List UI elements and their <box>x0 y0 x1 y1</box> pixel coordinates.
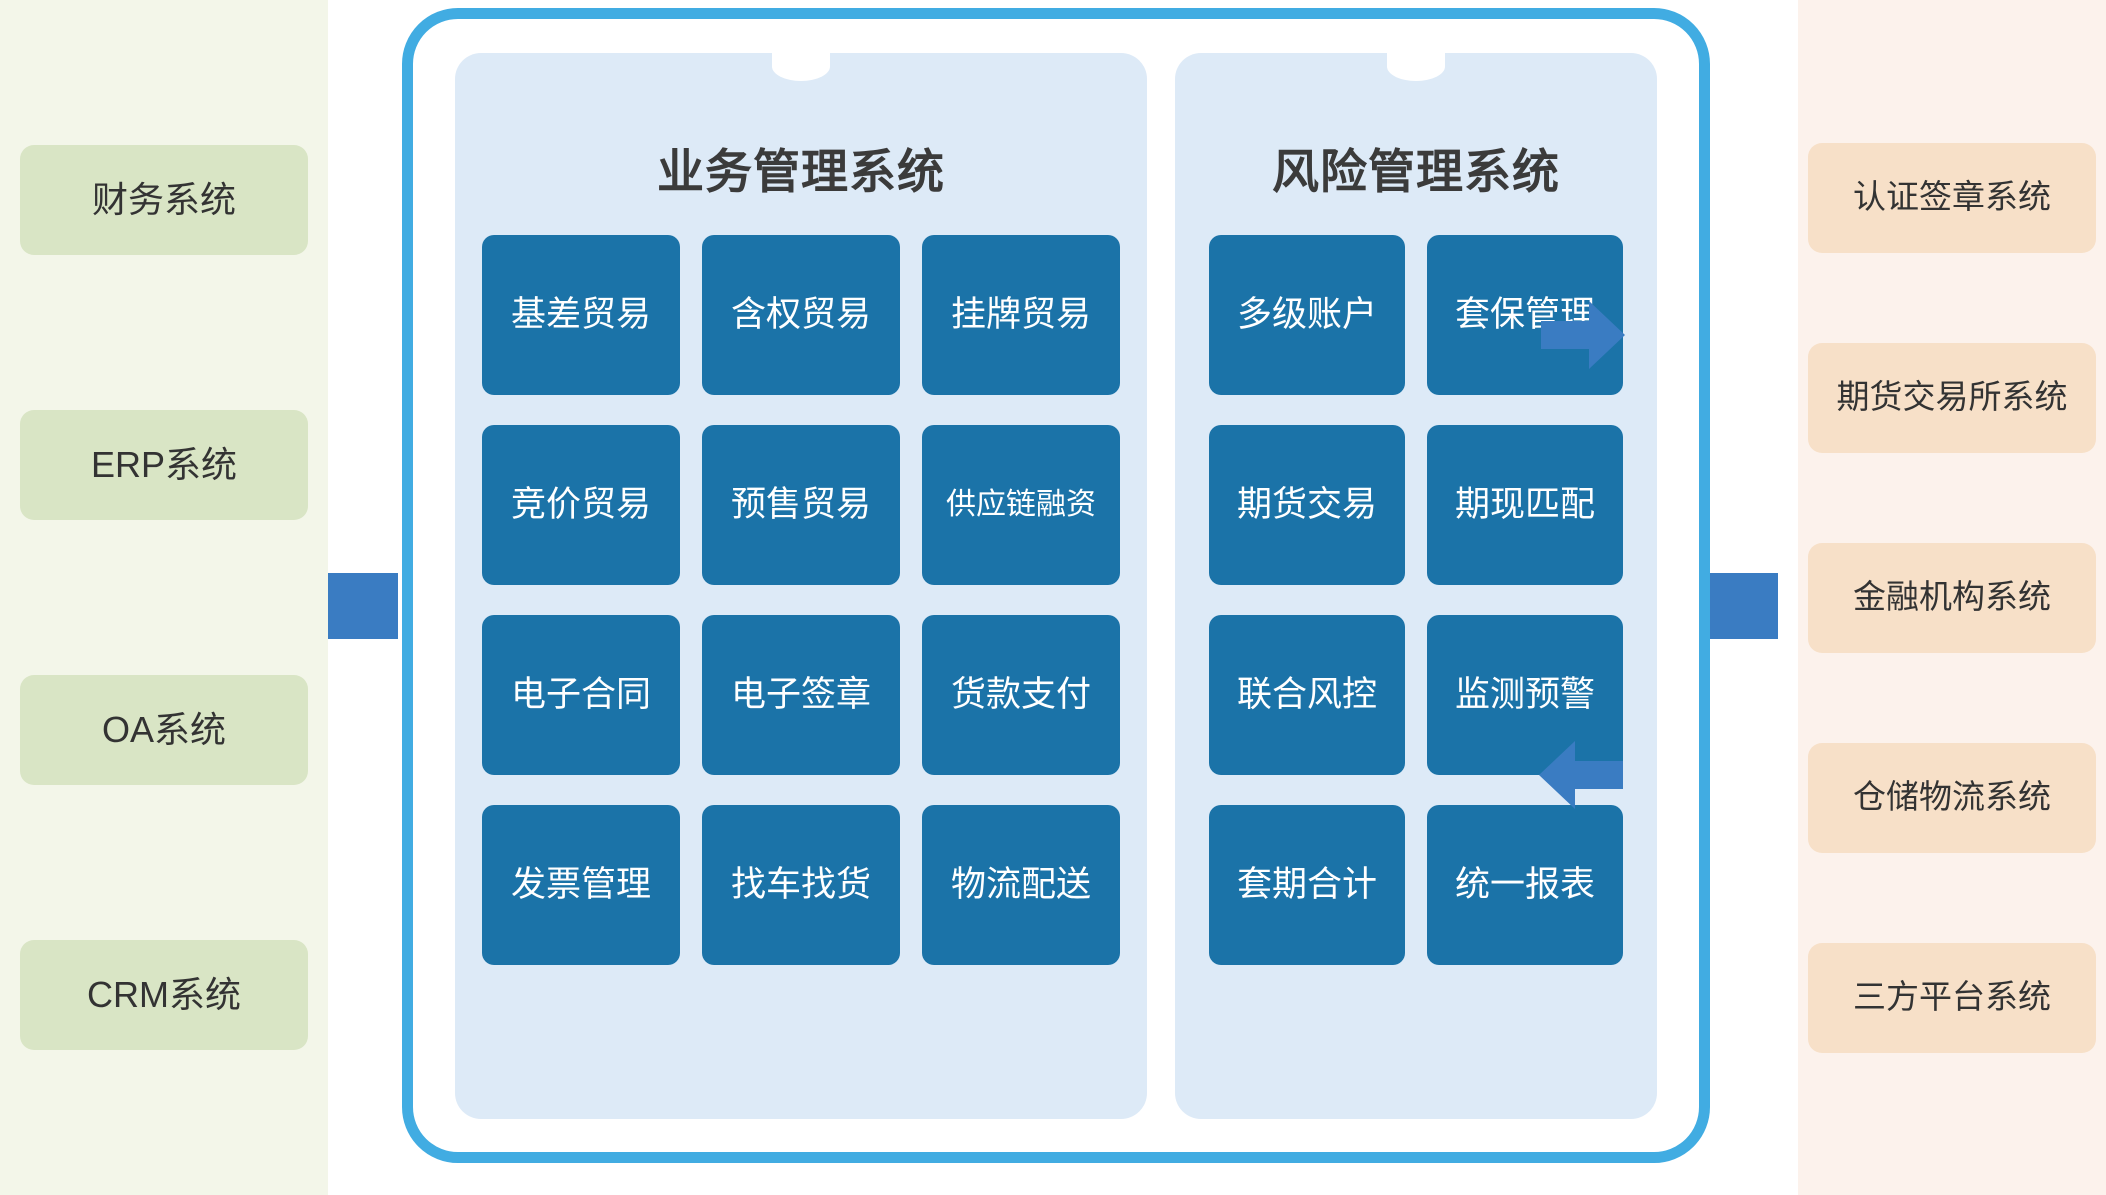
business-tile-grid: 基差贸易 含权贸易 挂牌贸易 竞价贸易 预售贸易 供应链融资 电子合同 电子签章… <box>455 235 1147 965</box>
tile-payment[interactable]: 货款支付 <box>922 615 1120 775</box>
chip-label: OA系统 <box>102 710 226 750</box>
arrow-right-icon <box>1541 301 1625 369</box>
tile-label: 竞价贸易 <box>511 485 651 525</box>
left-connector-block <box>328 573 398 639</box>
tile-label: 货款支付 <box>951 675 1091 715</box>
external-system-chip-third-party-platform[interactable]: 三方平台系统 <box>1808 943 2096 1053</box>
tile-label: 电子签章 <box>731 675 871 715</box>
tile-presale-trade[interactable]: 预售贸易 <box>702 425 900 585</box>
tile-label: 监测预警 <box>1455 675 1595 715</box>
tile-futures-trading[interactable]: 期货交易 <box>1209 425 1405 585</box>
tile-find-truck-find-cargo[interactable]: 找车找货 <box>702 805 900 965</box>
left-external-systems-panel: 财务系统 ERP系统 OA系统 CRM系统 <box>0 0 328 1195</box>
tile-label: 供应链融资 <box>946 488 1096 523</box>
external-system-chip-warehouse-logistics[interactable]: 仓储物流系统 <box>1808 743 2096 853</box>
tile-listing-trade[interactable]: 挂牌贸易 <box>922 235 1120 395</box>
business-management-system-panel: 业务管理系统 基差贸易 含权贸易 挂牌贸易 竞价贸易 预售贸易 供应链融资 电子… <box>455 53 1147 1119</box>
diagram-canvas: 财务系统 ERP系统 OA系统 CRM系统 认证签章系统 期货交易所系统 <box>0 0 2106 1195</box>
tile-label: 含权贸易 <box>731 295 871 335</box>
tile-label: 期现匹配 <box>1455 485 1595 525</box>
chip-label: 期货交易所系统 <box>1837 379 2068 415</box>
tile-label: 找车找货 <box>731 865 871 905</box>
right-connector-block <box>1708 573 1778 639</box>
chip-label: 金融机构系统 <box>1853 579 2051 615</box>
chip-label: CRM系统 <box>87 975 241 1015</box>
platform-container: 业务管理系统 基差贸易 含权贸易 挂牌贸易 竞价贸易 预售贸易 供应链融资 电子… <box>402 8 1710 1163</box>
external-system-chip-erp[interactable]: ERP系统 <box>20 410 308 520</box>
left-chip-stack: 财务系统 ERP系统 OA系统 CRM系统 <box>0 0 328 1195</box>
external-system-chip-crm[interactable]: CRM系统 <box>20 940 308 1050</box>
panel-notch-icon <box>772 52 830 81</box>
chip-label: ERP系统 <box>91 445 237 485</box>
tile-label: 套期合计 <box>1237 865 1377 905</box>
risk-management-system-panel: 风险管理系统 多级账户 套保管理 期货交易 期现匹配 联合风控 监测预警 套期合… <box>1175 53 1657 1119</box>
tile-label: 基差贸易 <box>511 295 651 335</box>
chip-label: 三方平台系统 <box>1853 979 2051 1015</box>
tile-label: 电子合同 <box>511 675 651 715</box>
external-system-chip-certification[interactable]: 认证签章系统 <box>1808 143 2096 253</box>
chip-label: 仓储物流系统 <box>1853 779 2051 815</box>
external-system-chip-financial-institution[interactable]: 金融机构系统 <box>1808 543 2096 653</box>
tile-multi-level-account[interactable]: 多级账户 <box>1209 235 1405 395</box>
external-system-chip-finance[interactable]: 财务系统 <box>20 145 308 255</box>
tile-bidding-trade[interactable]: 竞价贸易 <box>482 425 680 585</box>
business-system-title: 业务管理系统 <box>455 133 1147 202</box>
tile-label: 多级账户 <box>1237 295 1377 335</box>
panel-notch-icon <box>1387 52 1445 81</box>
arrow-left-icon <box>1539 741 1623 809</box>
tile-invoice-management[interactable]: 发票管理 <box>482 805 680 965</box>
chip-label: 财务系统 <box>92 180 236 220</box>
tile-label: 统一报表 <box>1455 865 1595 905</box>
tile-option-embedded-trade[interactable]: 含权贸易 <box>702 235 900 395</box>
tile-basis-trade[interactable]: 基差贸易 <box>482 235 680 395</box>
tile-joint-risk-control[interactable]: 联合风控 <box>1209 615 1405 775</box>
tile-label: 期货交易 <box>1237 485 1377 525</box>
tile-label: 物流配送 <box>951 865 1091 905</box>
right-chip-stack: 认证签章系统 期货交易所系统 金融机构系统 仓储物流系统 三方平台系统 <box>1798 0 2106 1195</box>
external-system-chip-futures-exchange[interactable]: 期货交易所系统 <box>1808 343 2096 453</box>
tile-supply-chain-finance[interactable]: 供应链融资 <box>922 425 1120 585</box>
external-system-chip-oa[interactable]: OA系统 <box>20 675 308 785</box>
tile-electronic-signature[interactable]: 电子签章 <box>702 615 900 775</box>
tile-electronic-contract[interactable]: 电子合同 <box>482 615 680 775</box>
tile-hedging-aggregation[interactable]: 套期合计 <box>1209 805 1405 965</box>
tile-label: 预售贸易 <box>731 485 871 525</box>
tile-unified-report[interactable]: 统一报表 <box>1427 805 1623 965</box>
right-external-systems-panel: 认证签章系统 期货交易所系统 金融机构系统 仓储物流系统 三方平台系统 <box>1798 0 2106 1195</box>
risk-system-title: 风险管理系统 <box>1175 133 1657 202</box>
chip-label: 认证签章系统 <box>1853 179 2051 215</box>
tile-label: 挂牌贸易 <box>951 295 1091 335</box>
tile-label: 发票管理 <box>511 865 651 905</box>
tile-logistics-delivery[interactable]: 物流配送 <box>922 805 1120 965</box>
tile-futures-spot-matching[interactable]: 期现匹配 <box>1427 425 1623 585</box>
tile-label: 联合风控 <box>1237 675 1377 715</box>
